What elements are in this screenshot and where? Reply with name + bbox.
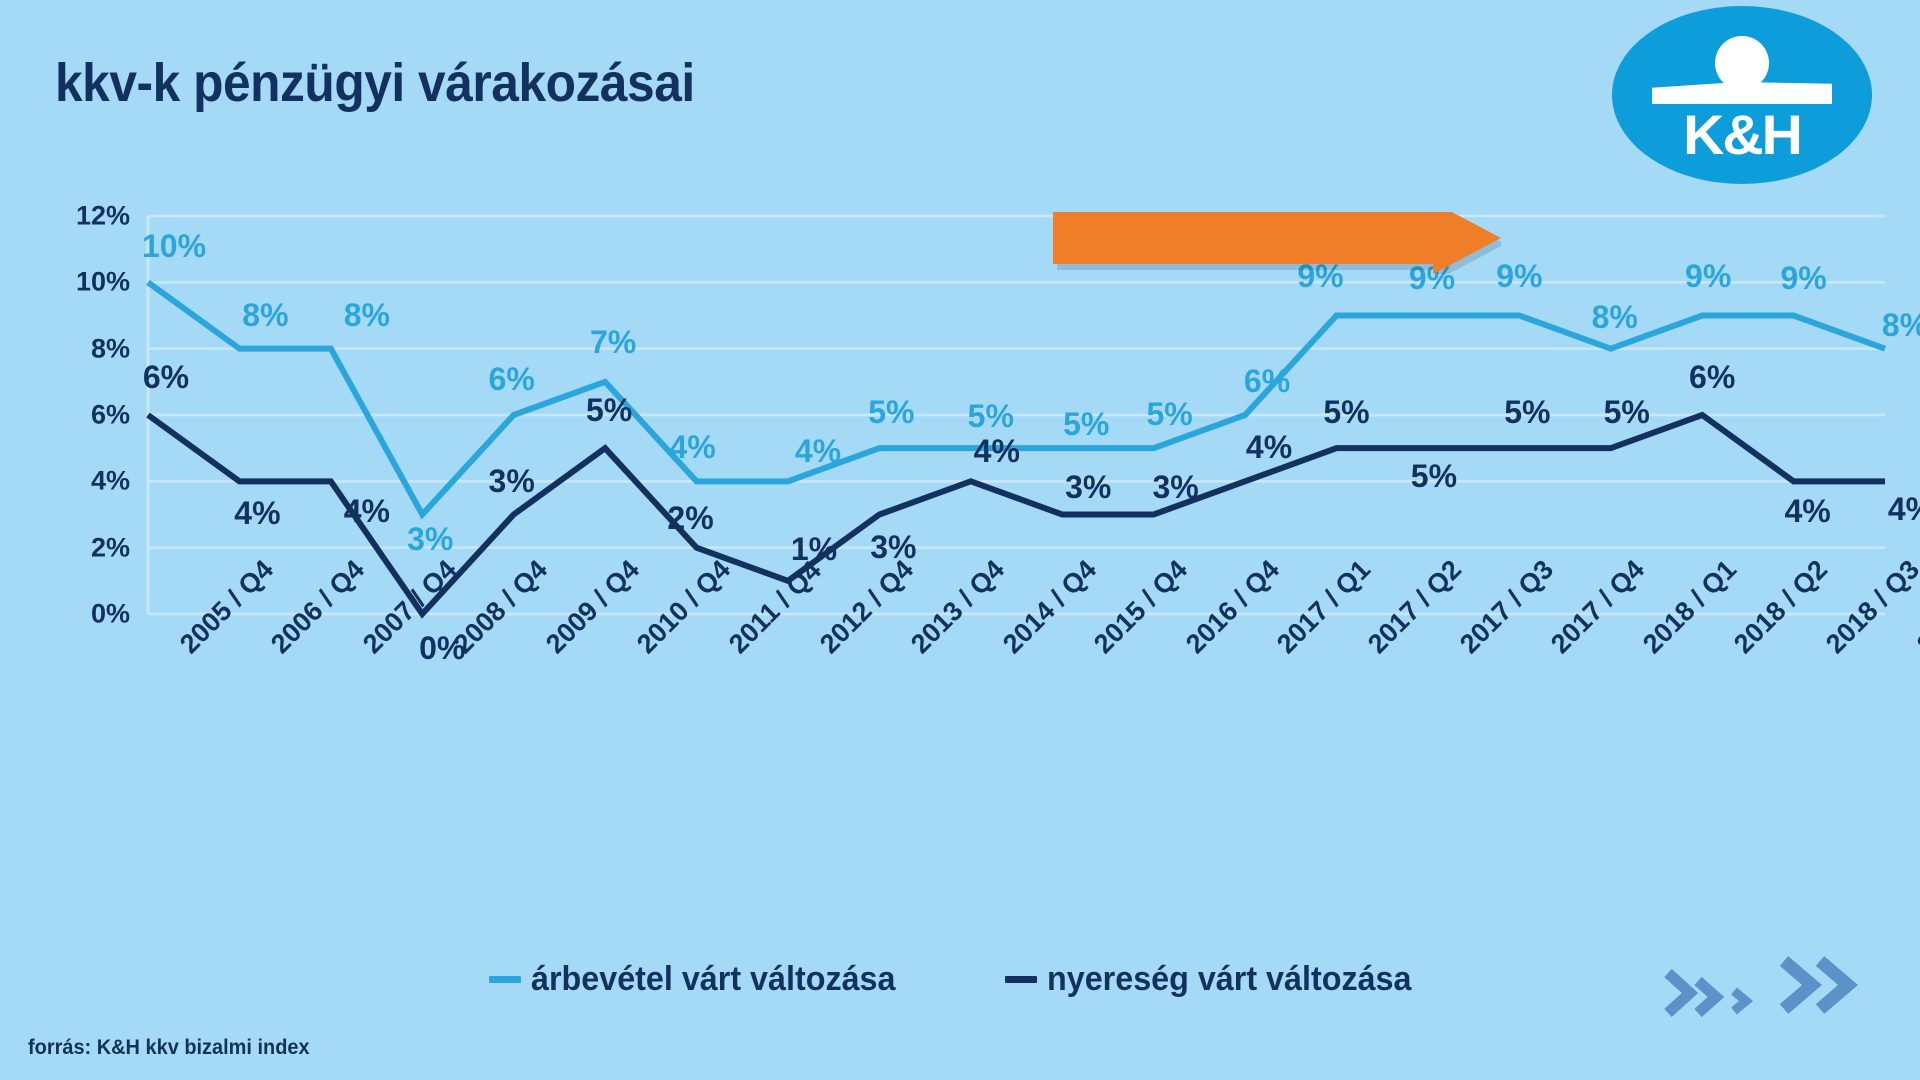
legend-item-revenue[interactable]: árbevétel várt változása	[489, 960, 915, 999]
profit-data-label: 5%	[1504, 394, 1550, 431]
y-axis-tick-label: 0%	[40, 599, 130, 630]
profit-data-label: 5%	[1323, 394, 1369, 431]
revenue-data-label: 5%	[1147, 396, 1193, 433]
profit-data-label: 0%	[419, 630, 465, 667]
profit-data-label: 3%	[1065, 469, 1111, 506]
y-axis-tick-label: 2%	[40, 532, 130, 563]
profit-data-label: 6%	[143, 359, 189, 396]
revenue-data-label: 8%	[242, 297, 288, 334]
profit-data-label: 4%	[974, 433, 1020, 470]
profit-data-label: 5%	[1604, 394, 1650, 431]
profit-data-label: 3%	[1153, 469, 1199, 506]
revenue-data-label: 10%	[142, 228, 206, 265]
revenue-data-label: 5%	[868, 394, 914, 431]
profit-data-label: 2%	[667, 500, 713, 537]
revenue-data-label: 9%	[1780, 260, 1826, 297]
profit-data-label: 5%	[1411, 458, 1457, 495]
y-axis-tick-label: 6%	[40, 400, 130, 431]
chevron-decoration-icon	[1660, 955, 1900, 1035]
revenue-data-label: 8%	[1882, 307, 1920, 344]
revenue-data-label: 5%	[968, 398, 1014, 435]
revenue-data-label: 6%	[1244, 363, 1290, 400]
revenue-data-label: 9%	[1685, 258, 1731, 295]
profit-data-label: 1%	[791, 531, 837, 568]
legend-item-profit[interactable]: nyereség várt változása	[1005, 960, 1431, 999]
profit-data-label: 4%	[344, 493, 390, 530]
chart-area: 0%2%4%6%8%10%12% 2005 / Q42006 / Q42007 …	[0, 0, 1920, 1080]
revenue-data-label: 7%	[590, 324, 636, 361]
y-axis-tick-label: 12%	[40, 201, 130, 232]
revenue-data-label: 4%	[795, 433, 841, 470]
legend-label-profit: nyereség várt változása	[1047, 960, 1411, 999]
chart-svg	[0, 0, 1920, 1080]
source-note: forrás: K&H kkv bizalmi index	[28, 1036, 310, 1060]
y-axis-tick-label: 4%	[40, 466, 130, 497]
revenue-data-label: 4%	[669, 429, 715, 466]
profit-data-label: 4%	[1888, 491, 1920, 528]
y-axis-tick-label: 8%	[40, 333, 130, 364]
legend-label-revenue: árbevétel várt változása	[531, 960, 895, 999]
revenue-data-label: 9%	[1496, 258, 1542, 295]
profit-data-label: 3%	[870, 529, 916, 566]
revenue-data-label: 8%	[344, 297, 390, 334]
profit-data-label: 6%	[1689, 359, 1735, 396]
legend-swatch-profit	[1005, 976, 1037, 983]
revenue-data-label: 6%	[489, 361, 535, 398]
revenue-data-label: 3%	[407, 521, 453, 558]
profit-data-label: 3%	[489, 463, 535, 500]
legend-swatch-revenue	[489, 976, 521, 983]
revenue-data-label: 8%	[1592, 299, 1638, 336]
growth-trend-arrow-icon	[1053, 212, 1501, 264]
profit-data-label: 5%	[586, 392, 632, 429]
revenue-data-label: 5%	[1063, 406, 1109, 443]
profit-data-label: 4%	[1784, 493, 1830, 530]
y-axis-tick-label: 10%	[40, 267, 130, 298]
chart-legend: árbevétel várt változása nyereség várt v…	[0, 960, 1920, 999]
profit-data-label: 4%	[234, 495, 280, 532]
profit-data-label: 4%	[1246, 429, 1292, 466]
